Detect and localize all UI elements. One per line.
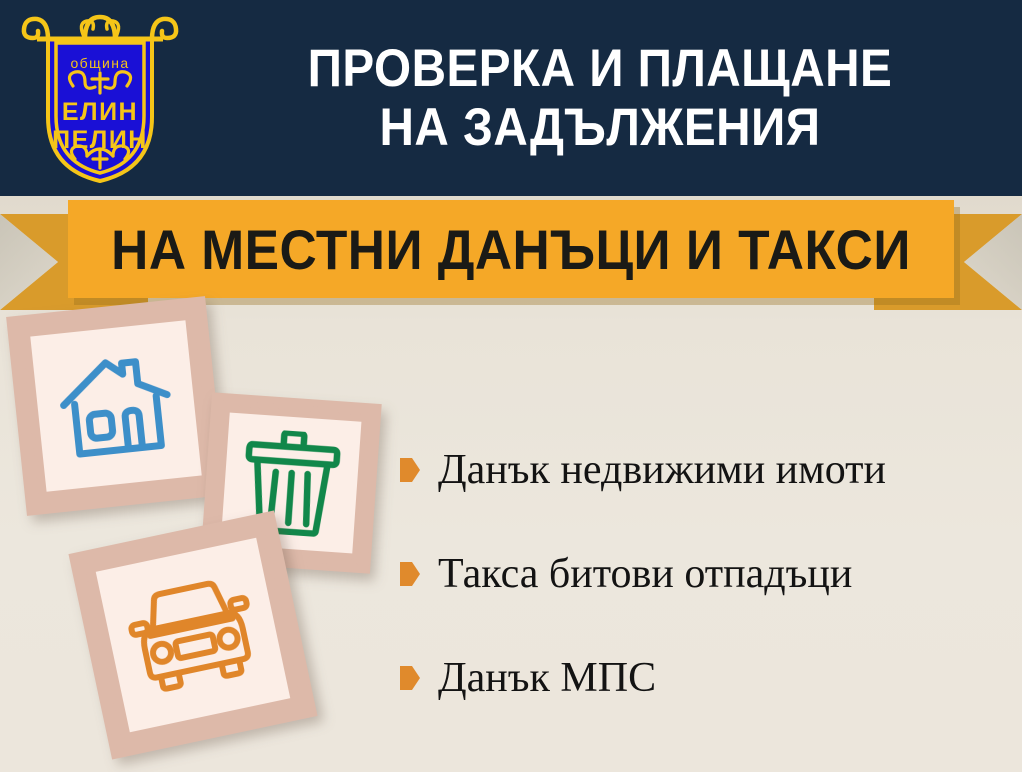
page-title-line-2: НА ЗАДЪЛЖЕНИЯ	[240, 98, 960, 157]
page-title: ПРОВЕРКА И ПЛАЩАНЕ НА ЗАДЪЛЖЕНИЯ	[200, 39, 1022, 158]
stamp-paper-house	[30, 320, 201, 491]
stamp-paper-vehicle	[96, 538, 291, 733]
crest-container: община ЕЛИН ПЕЛИН	[0, 0, 200, 196]
stamp-card-house	[6, 296, 226, 516]
list-item[interactable]: Данък МПС	[400, 626, 1010, 730]
arrow-bullet-icon	[400, 562, 420, 586]
list-item-label: Данък недвижими имоти	[438, 449, 886, 491]
elin-pelin-coat-of-arms-icon: община ЕЛИН ПЕЛИН	[15, 9, 185, 187]
stamp-gallery	[0, 300, 420, 772]
list-item[interactable]: Такса битови отпадъци	[400, 522, 1010, 626]
crest-municipality-word: община	[70, 55, 129, 71]
tax-type-list: Данък недвижими имоти Такса битови отпад…	[400, 418, 1010, 730]
ribbon-label: НА МЕСТНИ ДАНЪЦИ И ТАКСИ	[103, 200, 918, 298]
car-icon	[122, 571, 265, 699]
subtitle-ribbon: НА МЕСТНИ ДАНЪЦИ И ТАКСИ	[0, 196, 1022, 314]
header-bar: община ЕЛИН ПЕЛИН	[0, 0, 1022, 196]
page-title-line-1: ПРОВЕРКА И ПЛАЩАНЕ	[240, 39, 960, 98]
list-item-label: Такса битови отпадъци	[438, 553, 852, 595]
poster-canvas: община ЕЛИН ПЕЛИН	[0, 0, 1022, 772]
arrow-bullet-icon	[400, 458, 420, 482]
arrow-bullet-icon	[400, 666, 420, 690]
list-item[interactable]: Данък недвижими имоти	[400, 418, 1010, 522]
crest-name-line1: ЕЛИН	[62, 98, 138, 126]
house-icon	[55, 348, 177, 463]
ribbon-band: НА МЕСТНИ ДАНЪЦИ И ТАКСИ	[68, 200, 954, 298]
stamp-card-vehicle	[68, 510, 317, 759]
list-item-label: Данък МПС	[438, 657, 656, 699]
